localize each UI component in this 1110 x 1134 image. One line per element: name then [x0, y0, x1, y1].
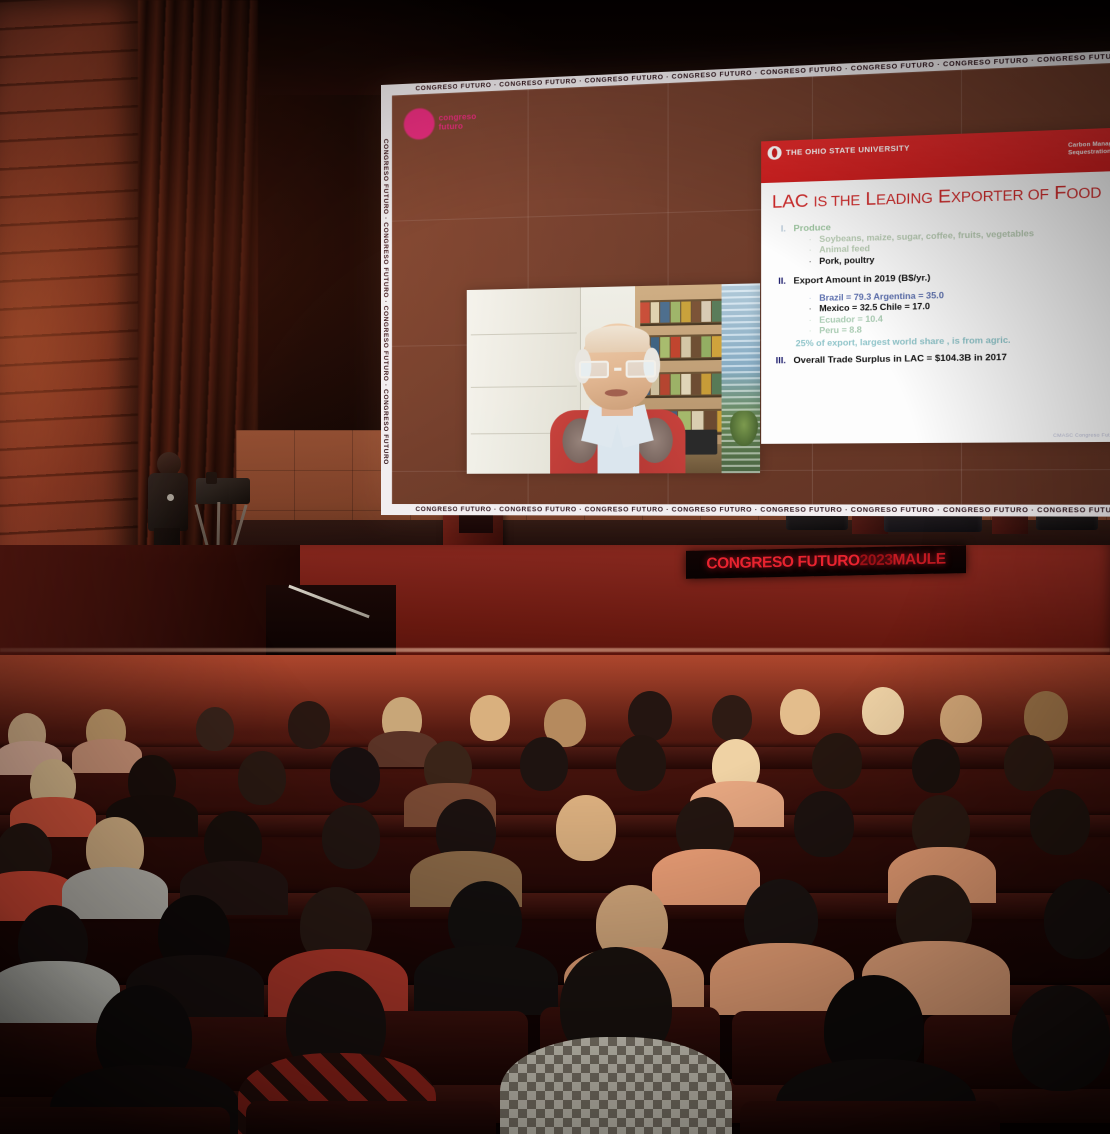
frame-text-bottom: CONGRESO FUTURO · CONGRESO FUTURO · CONG… [381, 504, 1110, 517]
audience-head [1004, 735, 1054, 791]
export-row-peru: Peru = 8.8 [819, 325, 862, 335]
slide-footer: CMASC Congreso Futuro 2023 2 [1053, 431, 1110, 438]
center-name: Carbon Management and Sequestration Cent… [1068, 140, 1110, 158]
osu-o-icon [768, 146, 782, 160]
audience-head [330, 747, 380, 803]
audience-head [288, 701, 330, 749]
video-bg-monitor [681, 430, 717, 455]
slide-section: II. Export Amount in 2019 (B$/yr.) [772, 266, 1110, 285]
speaker-hair [585, 325, 650, 353]
audience-head [628, 691, 672, 741]
wall-warm-glow [0, 120, 120, 540]
screen-branded-frame: CONGRESO FUTURO · CONGRESO FUTURO · CONG… [381, 49, 1110, 517]
stage-steps [266, 585, 396, 655]
audience-head [1024, 691, 1068, 741]
audience-head [470, 695, 510, 741]
theater-seat [740, 1101, 1000, 1134]
export-row-mexico-chile: Mexico = 32.5 Chile = 17.0 [819, 302, 930, 314]
audience-shoulders-checkered [500, 1037, 732, 1134]
theater-seat [0, 1107, 230, 1134]
remote-speaker-video [467, 283, 760, 474]
audience-head [1044, 879, 1110, 959]
audience-head [862, 687, 904, 735]
audience-shoulders [652, 849, 760, 905]
logo-circle-icon [404, 108, 435, 140]
audience-area [0, 655, 1110, 1134]
logo-wordmark: congreso futuro [439, 113, 477, 132]
theater-seat [246, 1101, 496, 1134]
presentation-slide: THE OHIO STATE UNIVERSITY Carbon Managem… [761, 126, 1110, 444]
audience-head [780, 689, 820, 735]
audience-head [1012, 985, 1110, 1091]
screen-surface: congreso futuro [392, 61, 1110, 505]
video-camera-icon [196, 478, 250, 504]
export-row-ecuador: Ecuador = 10.4 [819, 314, 883, 325]
frame-text-left: CONGRESO FUTURO · CONGRESO FUTURO · CONG… [381, 84, 392, 515]
audience-head [812, 733, 862, 789]
camera-lens-icon [206, 472, 217, 484]
audience-head [1030, 789, 1090, 855]
speaker-figure [554, 322, 681, 473]
audience-head [912, 739, 960, 793]
audience-head [556, 795, 616, 861]
stage-led-banner: CONGRESO FUTURO2023MAULE [686, 545, 966, 579]
stage-front-edge-highlight [0, 648, 1110, 652]
audience-head [238, 751, 286, 805]
audience-head [794, 791, 854, 857]
slide-section: III. Overall Trade Surplus in LAC = $104… [772, 349, 1110, 365]
audience-shoulders [62, 867, 168, 919]
video-bg-plant [730, 411, 758, 447]
audience-head [520, 737, 568, 791]
audience-shoulders [414, 945, 558, 1015]
osu-logo: THE OHIO STATE UNIVERSITY [768, 141, 910, 160]
slide-body: I. Produce · Soybeans, maize, sugar, cof… [761, 204, 1110, 366]
slide-credit: CMASC Congreso Futuro 2023 [1053, 432, 1110, 438]
export-row-brazil-argentina: Brazil = 79.3 Argentina = 35.0 [819, 290, 944, 302]
audience-head [712, 695, 752, 741]
banner-text: CONGRESO FUTURO2023MAULE [706, 550, 945, 573]
auditorium-scene: congreso futuro CONGRESO FUTURO · CONGRE… [0, 0, 1110, 1134]
audience-head [940, 695, 982, 743]
glasses-lens [579, 361, 609, 379]
glasses-bridge [614, 368, 621, 370]
speaker-glasses [579, 360, 656, 379]
audience-head [616, 735, 666, 791]
audience-head [196, 707, 234, 751]
osu-wordmark: THE OHIO STATE UNIVERSITY [786, 143, 910, 157]
projection-screen: CONGRESO FUTURO · CONGRESO FUTURO · CONG… [381, 49, 1110, 517]
congreso-futuro-logo-icon: congreso futuro [404, 106, 477, 140]
glasses-lens [626, 360, 656, 378]
audience-head [322, 805, 380, 869]
